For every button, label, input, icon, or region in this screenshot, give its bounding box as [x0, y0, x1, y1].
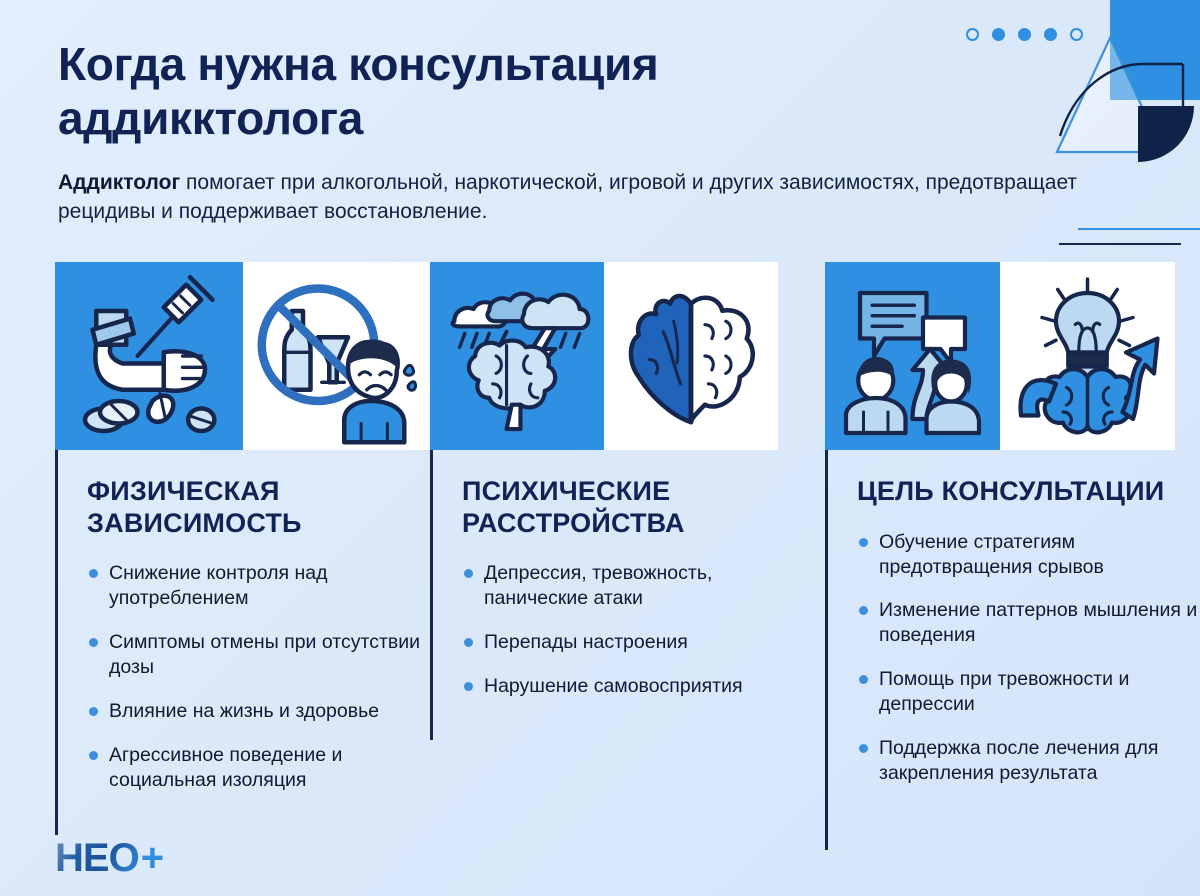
no-alcohol-sad-person-icon [243, 262, 431, 450]
subtitle-rest: помогает при алкогольной, наркотической,… [58, 171, 1077, 224]
columns-container: ФИЗИЧЕСКАЯ ЗАВИСИМОСТЬ Снижение контроля… [0, 262, 1200, 850]
column-mental-disorders: ПСИХИЧЕСКИЕ РАССТРОЙСТВА Депрессия, трев… [430, 262, 805, 850]
column-3-heading: ЦЕЛЬ КОНСУЛЬТАЦИИ [857, 476, 1200, 508]
list-item: Агрессивное поведение и социальная изоля… [87, 743, 430, 793]
list-item: Снижение контроля над употреблением [87, 561, 430, 611]
column-physical-dependence: ФИЗИЧЕСКАЯ ЗАВИСИМОСТЬ Снижение контроля… [55, 262, 430, 850]
column-2-body: ПСИХИЧЕСКИЕ РАССТРОЙСТВА Депрессия, трев… [430, 450, 805, 740]
brain-storm-clouds-icon [430, 262, 604, 450]
infographic-poster: Когда нужна консультация аддикктолога Ад… [0, 0, 1200, 896]
decorative-line-navy [1059, 243, 1181, 245]
logo-plus-icon: + [141, 838, 164, 878]
header: Когда нужна консультация аддикктолога Ад… [58, 38, 1078, 227]
arm-syringe-pills-icon [55, 262, 243, 450]
list-item: Депрессия, тревожность, панические атаки [462, 561, 805, 611]
column-1-heading: ФИЗИЧЕСКАЯ ЗАВИСИМОСТЬ [87, 476, 430, 539]
page-title: Когда нужна консультация аддикктолога [58, 38, 858, 146]
column-3-body: ЦЕЛЬ КОНСУЛЬТАЦИИ Обучение стратегиям пр… [825, 450, 1200, 850]
list-item: Поддержка после лечения для закрепления … [857, 736, 1200, 786]
column-2-heading: ПСИХИЧЕСКИЕ РАССТРОЙСТВА [462, 476, 805, 539]
list-item: Нарушение самовосприятия [462, 674, 805, 699]
page-subtitle: Аддиктолог помогает при алкогольной, нар… [58, 168, 1103, 228]
column-1-bullets: Снижение контроля над употреблением Симп… [87, 561, 430, 793]
column-consultation-goal: ЦЕЛЬ КОНСУЛЬТАЦИИ Обучение стратегиям пр… [825, 262, 1200, 850]
logo-text: НЕО [55, 838, 139, 878]
list-item: Обучение стратегиям предотвращения срыво… [857, 530, 1200, 580]
list-item: Изменение паттернов мышления и поведения [857, 598, 1200, 648]
brand-logo: НЕО + [55, 838, 164, 878]
column-3-bullets: Обучение стратегиям предотвращения срыво… [857, 530, 1200, 787]
column-1-image-row [55, 262, 430, 450]
subtitle-bold-term: Аддиктолог [58, 171, 180, 194]
decorative-line-blue [1078, 228, 1200, 230]
column-3-image-row [825, 262, 1175, 450]
list-item: Перепады настроения [462, 630, 805, 655]
brain-lightbulb-arrows-icon [1000, 262, 1175, 450]
list-item: Помощь при тревожности и депрессии [857, 667, 1200, 717]
column-1-body: ФИЗИЧЕСКАЯ ЗАВИСИМОСТЬ Снижение контроля… [55, 450, 430, 835]
list-item: Симптомы отмены при отсутствии дозы [87, 630, 430, 680]
heart-brain-icon [604, 262, 778, 450]
two-people-speech-bubbles-icon [825, 262, 1000, 450]
column-2-image-row [430, 262, 778, 450]
list-item: Влияние на жизнь и здоровье [87, 699, 430, 724]
column-2-bullets: Депрессия, тревожность, панические атаки… [462, 561, 805, 699]
